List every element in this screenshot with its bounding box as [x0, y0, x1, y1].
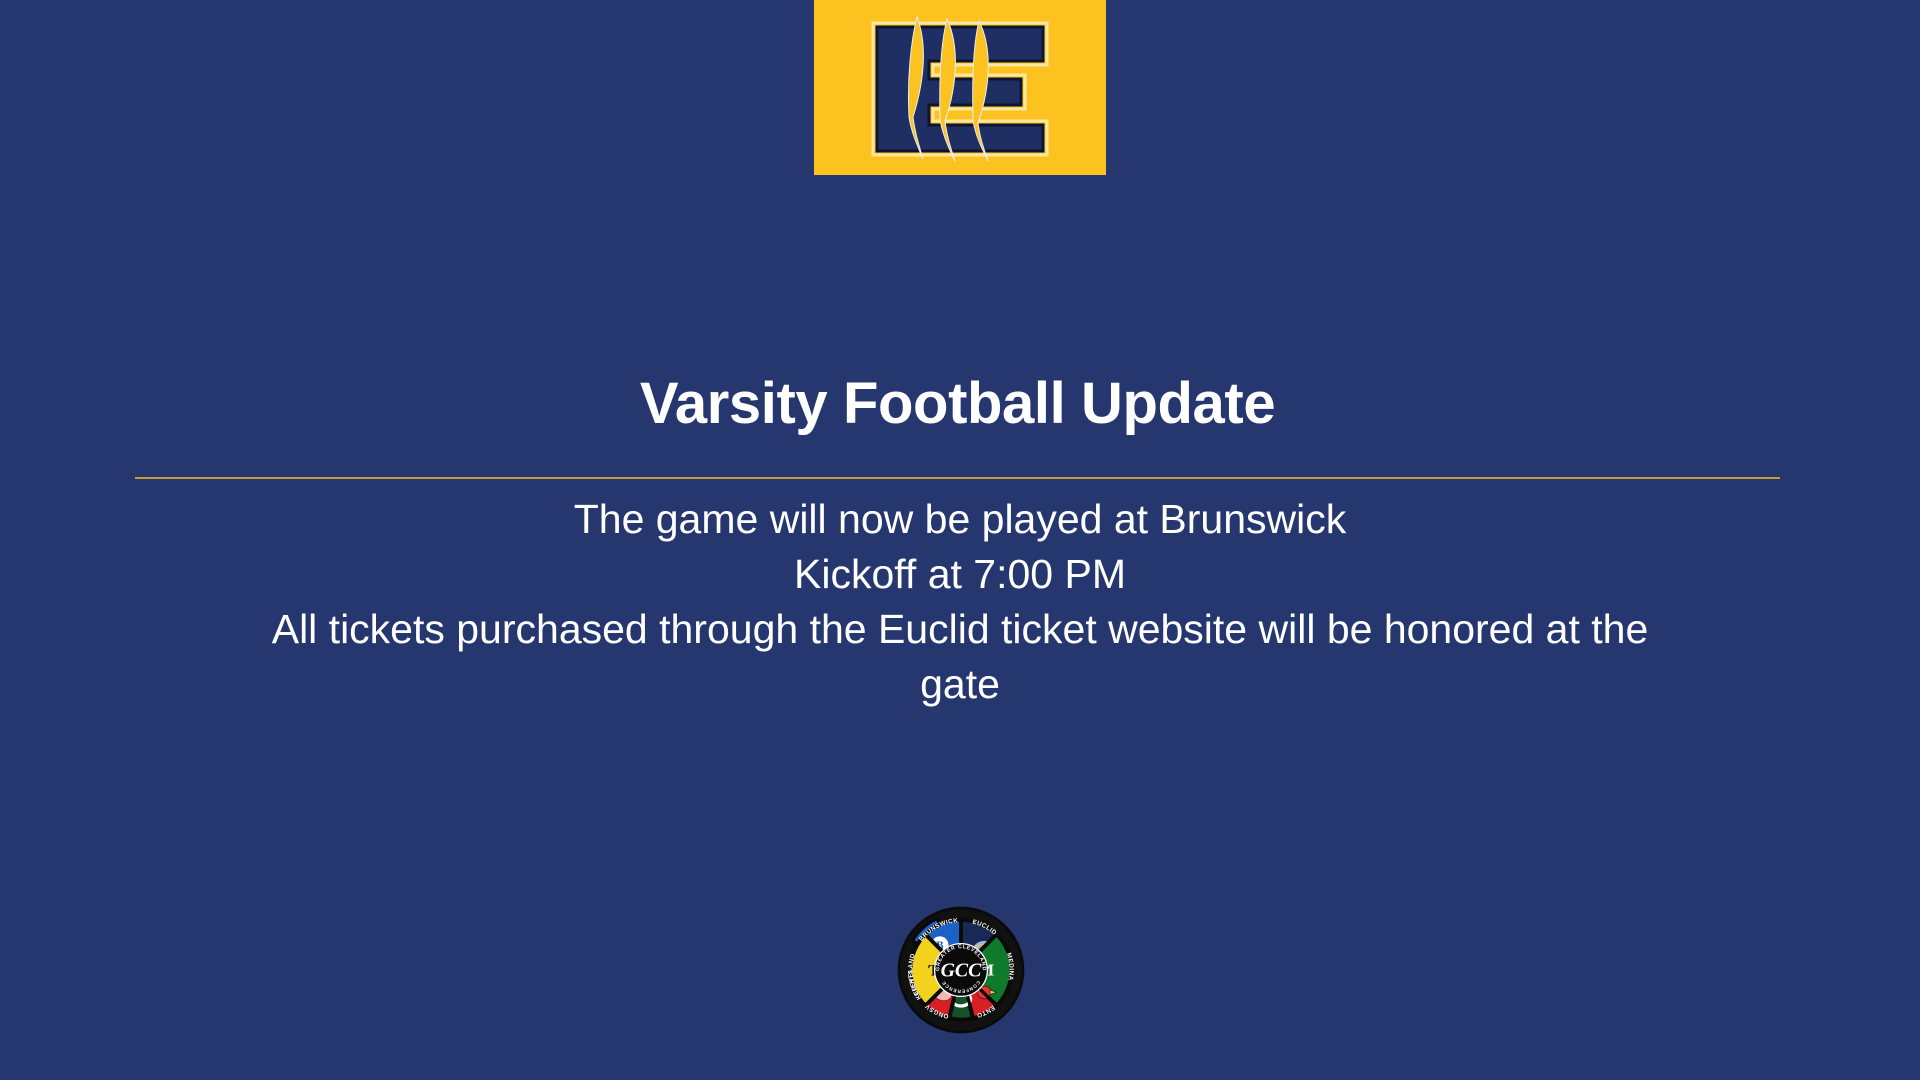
announcement-line-3: All tickets purchased through the Euclid… — [135, 602, 1785, 657]
page-title: Varsity Football Update — [135, 372, 1780, 436]
conference-center-hub: GREATER CLEVELAND GCC CONFERENCE — [935, 944, 988, 997]
announcement-line-4: gate — [135, 657, 1785, 712]
title-divider — [135, 477, 1780, 479]
announcement-line-1: The game will now be played at Brunswick — [135, 492, 1785, 547]
announcement-line-2: Kickoff at 7:00 PM — [135, 547, 1785, 602]
announcement-body: The game will now be played at Brunswick… — [135, 492, 1785, 712]
center-abbr-text: GCC — [941, 960, 983, 982]
greater-cleveland-conference-icon: B M — [895, 900, 1027, 1040]
conference-logo: B M — [895, 900, 1027, 1040]
